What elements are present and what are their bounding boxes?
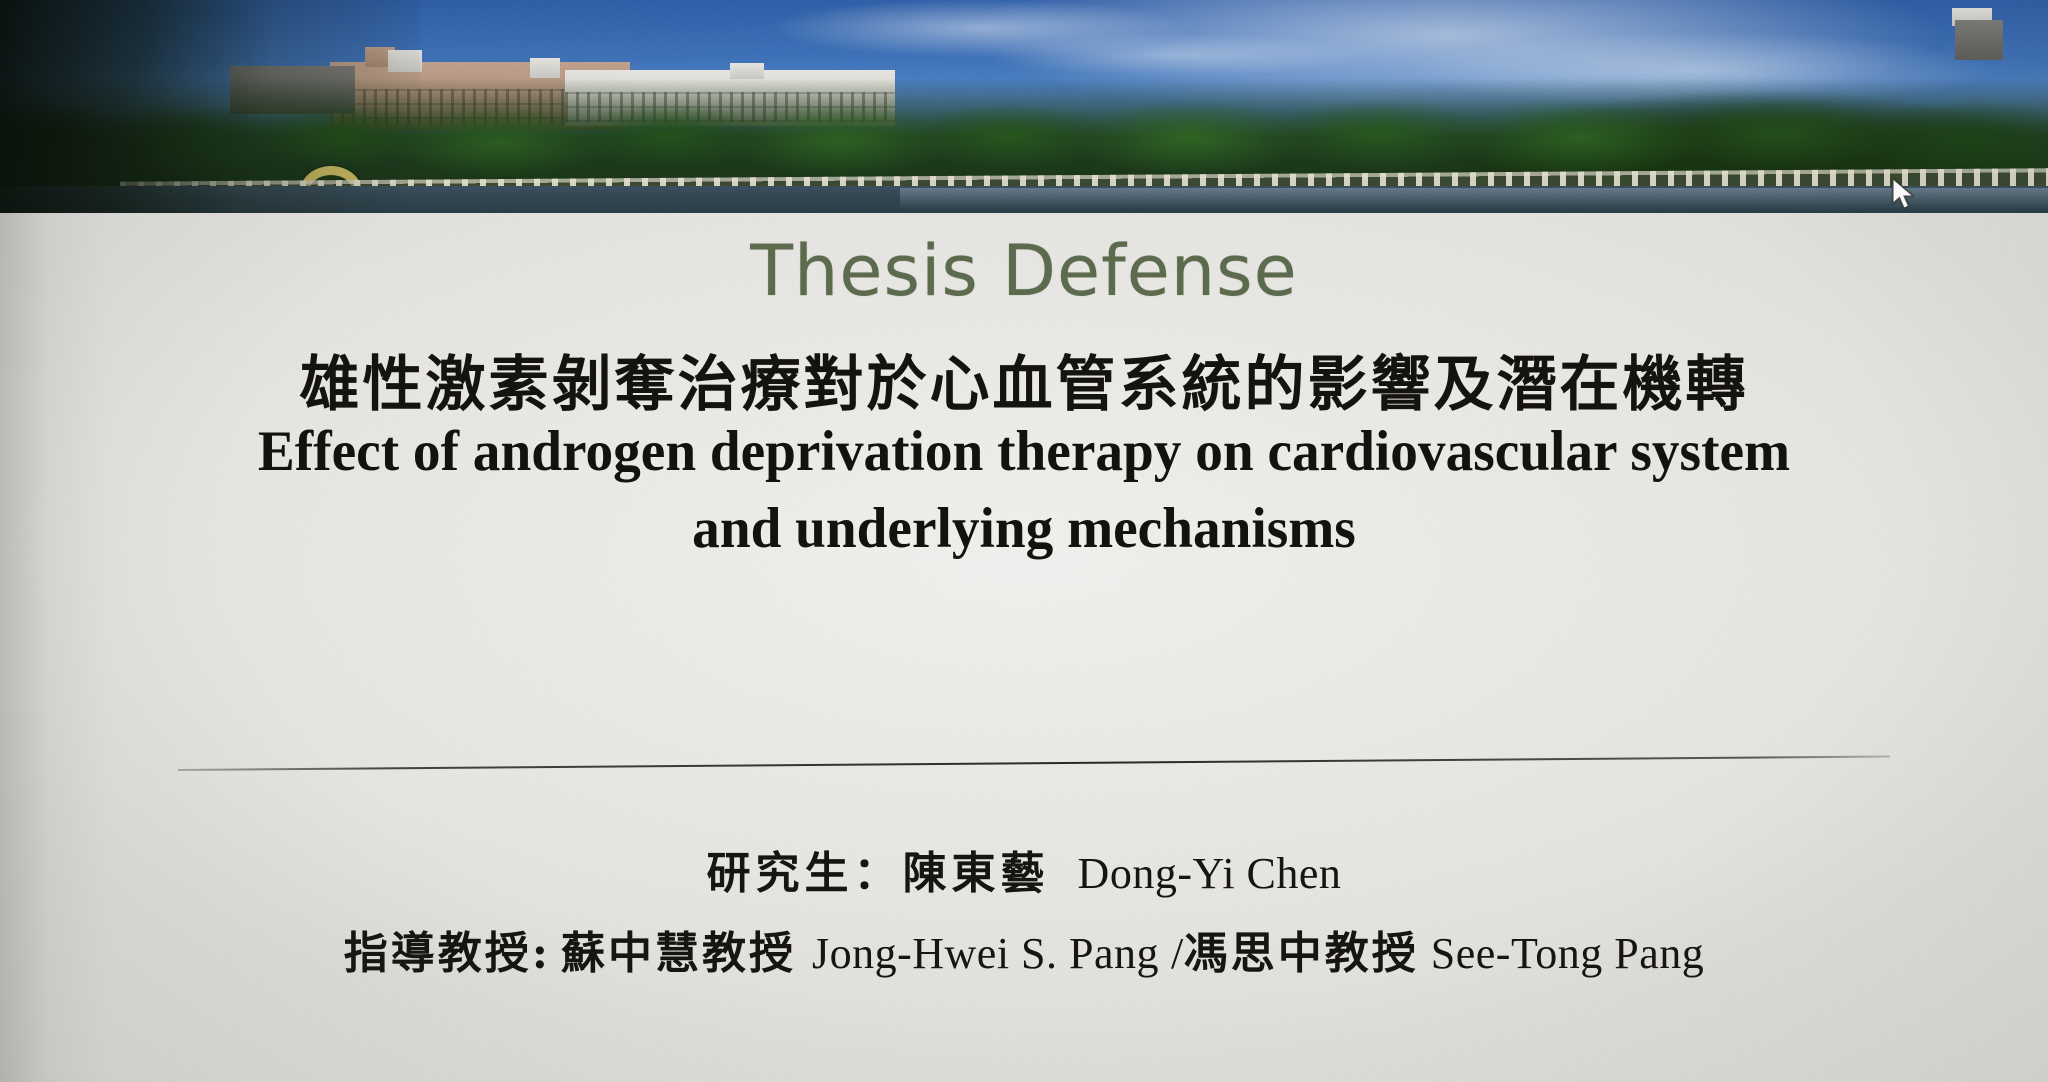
advisor-credit-line: 指導教授:蘇中慧教授Jong-Hwei S. Pang/馮思中教授See-Ton… [0, 917, 2048, 981]
photo-vignette-left [0, 0, 420, 213]
slide-body: Thesis Defense 雄性激素剝奪治療對於心血管系統的影響及潛在機轉 E… [0, 213, 2048, 1082]
advisor-label: 指導教授: [344, 928, 551, 979]
student-name-chinese: 陳東藝 [903, 848, 1050, 899]
slide-content: Thesis Defense 雄性激素剝奪治療對於心血管系統的影響及潛在機轉 E… [0, 213, 2048, 1082]
rooftop-block-b [530, 58, 560, 78]
thesis-title-english-line2: and underlying mechanisms [31, 496, 2018, 561]
advisor-two-english: See-Tong Pang [1431, 929, 1705, 978]
presentation-slide: Thesis Defense 雄性激素剝奪治療對於心血管系統的影響及潛在機轉 E… [0, 0, 2048, 1082]
advisor-one-chinese: 蘇中慧教授 [561, 928, 796, 979]
advisor-two-chinese: 馮思中教授 [1184, 928, 1419, 979]
student-label: 研究生： [707, 848, 903, 899]
campus-photo-banner [0, 0, 2048, 213]
thesis-title-english-line1: Effect of androgen deprivation therapy o… [31, 419, 2018, 484]
advisor-separator: / [1171, 929, 1184, 978]
horizontal-divider [178, 756, 1890, 771]
thesis-title-chinese: 雄性激素剝奪治療對於心血管系統的影響及潛在機轉 [0, 336, 2048, 423]
advisor-one-english: Jong-Hwei S. Pang [812, 929, 1159, 978]
student-credit-line: 研究生：陳東藝Dong-Yi Chen [0, 837, 2048, 901]
student-name-english: Dong-Yi Chen [1078, 849, 1342, 898]
rooftop-block-c [730, 63, 764, 79]
building-far-right [1955, 20, 2003, 60]
water-reflection [900, 188, 2048, 210]
slide-heading: Thesis Defense [0, 230, 2048, 312]
